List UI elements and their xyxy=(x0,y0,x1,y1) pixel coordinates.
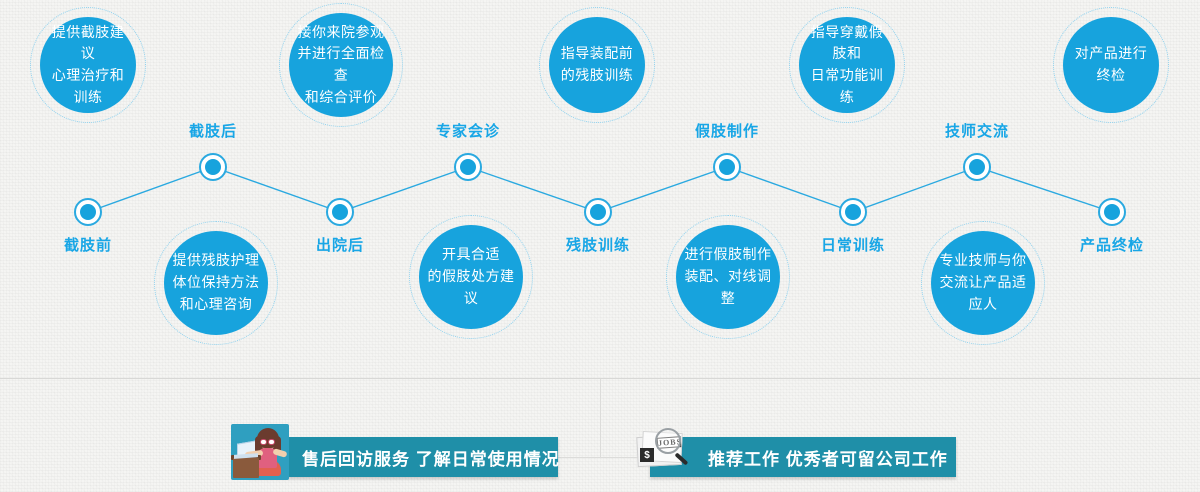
timeline-node-label-6: 假肢制作 xyxy=(695,120,759,141)
timeline-node-7[interactable] xyxy=(839,198,867,226)
bubble-7[interactable]: 指导穿戴假肢和日常功能训练 xyxy=(799,17,895,113)
timeline-node-3[interactable] xyxy=(326,198,354,226)
bubble-text-line: 心理治疗和训练 xyxy=(40,65,136,108)
bubble-text-line: 体位保持方法 xyxy=(167,272,266,294)
timeline-node-label-4: 专家会诊 xyxy=(436,120,500,141)
glasses-right-lens xyxy=(268,439,275,445)
bubble-text-line: 专业技师与你 xyxy=(931,250,1035,272)
timeline-node-5[interactable] xyxy=(584,198,612,226)
bubble-5[interactable]: 指导装配前的残肢训练 xyxy=(549,17,645,113)
timeline-node-1[interactable] xyxy=(74,198,102,226)
bubble-text-line: 对产品进行终检 xyxy=(1063,43,1159,86)
timeline-node-label-7: 日常训练 xyxy=(821,234,885,255)
bubble-text-line: 和心理咨询 xyxy=(167,294,266,316)
timeline-node-4[interactable] xyxy=(454,153,482,181)
timeline-node-label-5: 残肢训练 xyxy=(566,234,630,255)
bubble-text-line: 和综合评价 xyxy=(289,87,393,109)
bubble-text-line: 指导装配前 xyxy=(555,43,640,65)
bubble-2[interactable]: 提供残肢护理体位保持方法和心理咨询 xyxy=(164,231,268,335)
bubble-text-6: 进行假肢制作装配、对线调整 xyxy=(676,244,780,309)
bubble-text-9: 对产品进行终检 xyxy=(1063,43,1159,86)
timeline-node-label-8: 技师交流 xyxy=(945,120,1009,141)
bubble-text-7: 指导穿戴假肢和日常功能训练 xyxy=(799,22,895,109)
bubble-text-8: 专业技师与你交流让产品适应人 xyxy=(931,250,1035,315)
timeline-node-label-2: 截肢后 xyxy=(189,120,237,141)
timeline-node-label-3: 出院后 xyxy=(316,234,364,255)
connector-horizontal-left xyxy=(556,457,602,458)
banner-after-sales[interactable]: 售后回访服务 了解日常使用情况 xyxy=(248,437,558,477)
bubble-text-line: 提供残肢护理 xyxy=(167,250,266,272)
connector-vertical xyxy=(600,379,601,457)
timeline-node-label-9: 产品终检 xyxy=(1080,234,1144,255)
bubble-text-2: 提供残肢护理体位保持方法和心理咨询 xyxy=(167,250,266,315)
bubble-text-3: 接你来院参观并进行全面检查和综合评价 xyxy=(289,22,393,109)
bubble-text-line: 的残肢训练 xyxy=(555,65,640,87)
magnifier-lens xyxy=(655,428,681,454)
currency-badge: $ xyxy=(640,448,654,462)
bubble-text-line: 进行假肢制作 xyxy=(676,244,780,266)
bubble-text-line: 日常功能训练 xyxy=(799,65,895,108)
bubble-text-line: 接你来院参观 xyxy=(289,22,393,44)
bubble-text-4: 开具合适的假肢处方建议 xyxy=(419,244,523,309)
timeline-node-6[interactable] xyxy=(713,153,741,181)
timeline-node-9[interactable] xyxy=(1098,198,1126,226)
bubble-9[interactable]: 对产品进行终检 xyxy=(1063,17,1159,113)
glasses-left-lens xyxy=(260,439,267,445)
hair-top xyxy=(257,428,279,448)
bubble-text-line: 指导穿戴假肢和 xyxy=(799,22,895,65)
banner-job-referral-label: 推荐工作 优秀者可留公司工作 xyxy=(708,445,948,470)
timeline-node-2[interactable] xyxy=(199,153,227,181)
bubble-text-line: 交流让产品适应人 xyxy=(931,272,1035,315)
banner-job-referral[interactable]: 推荐工作 优秀者可留公司工作 xyxy=(650,437,956,477)
banner-after-sales-label: 售后回访服务 了解日常使用情况 xyxy=(302,445,560,470)
bubble-text-line: 的假肢处方建议 xyxy=(419,266,523,309)
bubble-6[interactable]: 进行假肢制作装配、对线调整 xyxy=(676,225,780,329)
bubble-text-line: 装配、对线调整 xyxy=(676,266,780,309)
bubble-text-line: 开具合适 xyxy=(419,244,523,266)
woman-at-desk-icon xyxy=(231,424,289,480)
timeline-node-label-1: 截肢前 xyxy=(64,234,112,255)
desk xyxy=(233,458,259,478)
bubble-text-5: 指导装配前的残肢训练 xyxy=(555,43,640,86)
bubble-text-line: 并进行全面检查 xyxy=(289,43,393,86)
bubble-text-line: 提供截肢建议 xyxy=(40,22,136,65)
bubble-4[interactable]: 开具合适的假肢处方建议 xyxy=(419,225,523,329)
bubble-1[interactable]: 提供截肢建议心理治疗和训练 xyxy=(40,17,136,113)
timeline-node-8[interactable] xyxy=(963,153,991,181)
bubble-3[interactable]: 接你来院参观并进行全面检查和综合评价 xyxy=(289,13,393,117)
bubble-8[interactable]: 专业技师与你交流让产品适应人 xyxy=(931,231,1035,335)
jobs-magnifier-icon: $ JOBS xyxy=(633,422,693,480)
bubble-text-1: 提供截肢建议心理治疗和训练 xyxy=(40,22,136,109)
